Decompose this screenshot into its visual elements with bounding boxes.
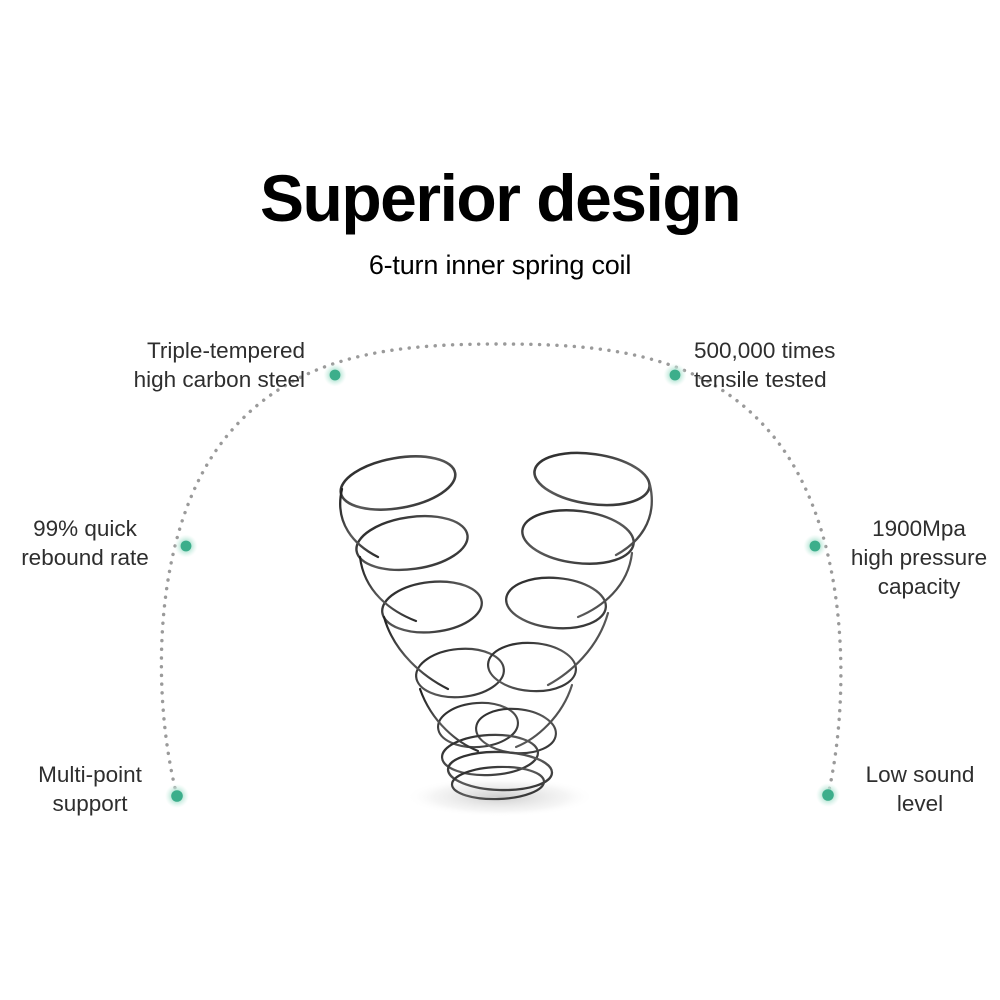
spring-coil-image xyxy=(320,445,680,825)
feature-label-tensile-tested: 500,000 times tensile tested xyxy=(694,336,944,394)
feature-marker-tensile-tested[interactable] xyxy=(664,364,687,387)
marker-core xyxy=(810,541,821,552)
marker-core xyxy=(171,790,183,802)
marker-core xyxy=(822,789,834,801)
feature-marker-rebound-rate[interactable] xyxy=(175,535,198,558)
feature-label-rebound-rate: 99% quick rebound rate xyxy=(0,514,170,572)
feature-marker-pressure-capacity[interactable] xyxy=(804,535,827,558)
feature-label-triple-tempered: Triple-tempered high carbon steel xyxy=(60,336,305,394)
infographic-canvas: Triple-tempered high carbon steel 500,00… xyxy=(0,0,1000,1000)
feature-label-pressure-capacity: 1900Mpa high pressure capacity xyxy=(838,514,1000,601)
marker-core xyxy=(330,370,341,381)
feature-marker-triple-tempered[interactable] xyxy=(324,364,347,387)
feature-label-multi-point: Multi-point support xyxy=(10,760,170,818)
feature-label-low-sound: Low sound level xyxy=(845,760,995,818)
spring-shadow xyxy=(405,777,595,817)
page-subtitle: 6-turn inner spring coil xyxy=(0,248,1000,282)
spring-wire-group xyxy=(337,446,653,800)
marker-core xyxy=(670,370,681,381)
feature-marker-low-sound[interactable] xyxy=(816,783,840,807)
page-title: Superior design xyxy=(0,160,1000,236)
marker-core xyxy=(181,541,192,552)
